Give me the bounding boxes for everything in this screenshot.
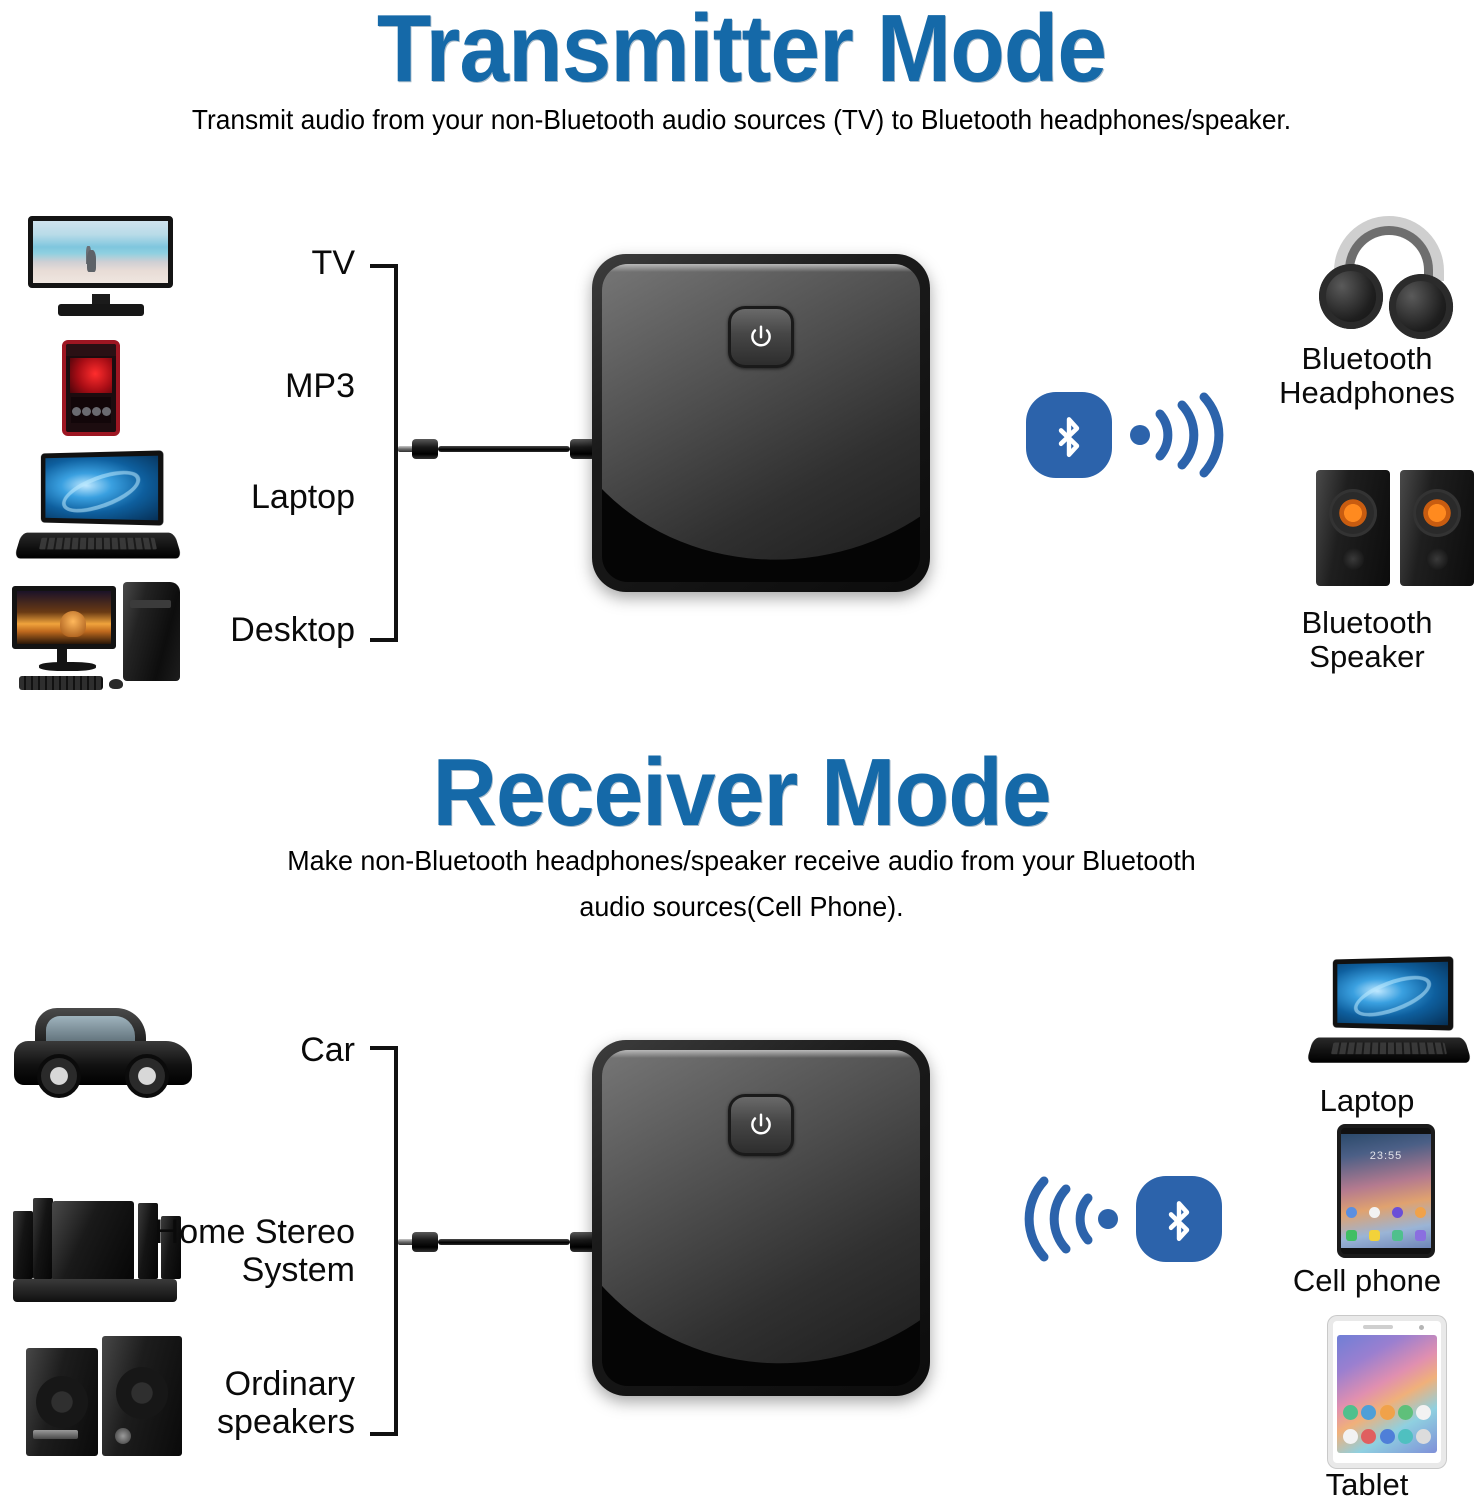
audio-cable-3-5mm xyxy=(398,434,610,464)
source-group-bracket xyxy=(370,264,398,642)
power-icon xyxy=(747,1111,775,1139)
destination-label-bluetooth-speaker-line1: Bluetooth xyxy=(1252,604,1482,642)
mp3-player-icon xyxy=(62,340,120,436)
destination-label-bluetooth-headphones-line2: Headphones xyxy=(1252,374,1482,412)
infographic-page: Transmitter Mode Transmit audio from you… xyxy=(0,0,1483,1500)
power-icon xyxy=(747,323,775,351)
bluetooth-glyph xyxy=(1047,407,1091,463)
receiver-mode-title: Receiver Mode xyxy=(52,738,1431,848)
speakers-icon xyxy=(1316,470,1474,586)
headphones-icon xyxy=(1316,216,1462,336)
receiver-subtitle-line2: audio sources(Cell Phone). xyxy=(30,884,1454,930)
bluetooth-glyph xyxy=(1157,1191,1201,1247)
laptop-icon xyxy=(18,452,178,568)
signal-waves-icon xyxy=(1018,1176,1122,1262)
receiver-source-label-ordinary-speakers-line1: Ordinary xyxy=(225,1364,355,1404)
receiver-source-label-car: Car xyxy=(300,1030,355,1070)
destination-label-bluetooth-speaker-line2: Speaker xyxy=(1252,638,1482,676)
laptop-icon xyxy=(1310,958,1468,1072)
receiver-destination-label-tablet: Tablet xyxy=(1252,1466,1482,1500)
power-button[interactable] xyxy=(728,1094,794,1156)
source-label-mp3: MP3 xyxy=(285,366,355,406)
bluetooth-icon xyxy=(1026,392,1112,478)
bluetooth-receiver-device[interactable] xyxy=(592,1040,930,1396)
bluetooth-transmit-indicator xyxy=(1026,392,1230,478)
transmitter-mode-subtitle: Transmit audio from your non-Bluetooth a… xyxy=(44,100,1438,140)
tablet-icon xyxy=(1328,1316,1446,1468)
bluetooth-transmitter-device[interactable] xyxy=(592,254,930,592)
signal-waves-icon xyxy=(1126,392,1230,478)
transmitter-mode-title: Transmitter Mode xyxy=(52,0,1431,104)
pc-speakers-icon xyxy=(26,1336,182,1456)
cellphone-icon: 23:55 xyxy=(1337,1124,1435,1258)
source-label-tv: TV xyxy=(312,243,355,283)
receiver-destination-label-cellphone: Cell phone xyxy=(1252,1262,1482,1300)
bluetooth-icon xyxy=(1136,1176,1222,1262)
receiver-mode-subtitle: Make non-Bluetooth headphones/speaker re… xyxy=(0,838,1483,930)
receiver-source-label-home-stereo-line2: System xyxy=(242,1250,355,1290)
receiver-source-label-home-stereo-line1: Home Stereo xyxy=(155,1212,355,1252)
destination-label-bluetooth-headphones-line1: Bluetooth xyxy=(1252,340,1482,378)
desktop-computer-icon xyxy=(12,582,180,690)
receiver-source-group-bracket xyxy=(370,1046,398,1436)
source-label-laptop: Laptop xyxy=(251,477,355,517)
source-label-desktop: Desktop xyxy=(230,610,355,650)
bluetooth-receive-indicator xyxy=(1018,1176,1222,1262)
phone-clock: 23:55 xyxy=(1341,1150,1431,1162)
tv-icon xyxy=(28,216,173,316)
receiver-subtitle-line1: Make non-Bluetooth headphones/speaker re… xyxy=(30,838,1454,884)
power-button[interactable] xyxy=(728,306,794,368)
receiver-source-label-ordinary-speakers-line2: speakers xyxy=(217,1402,355,1442)
receiver-destination-label-laptop: Laptop xyxy=(1252,1082,1482,1120)
car-icon xyxy=(14,1006,192,1102)
audio-cable-3-5mm xyxy=(398,1227,610,1257)
